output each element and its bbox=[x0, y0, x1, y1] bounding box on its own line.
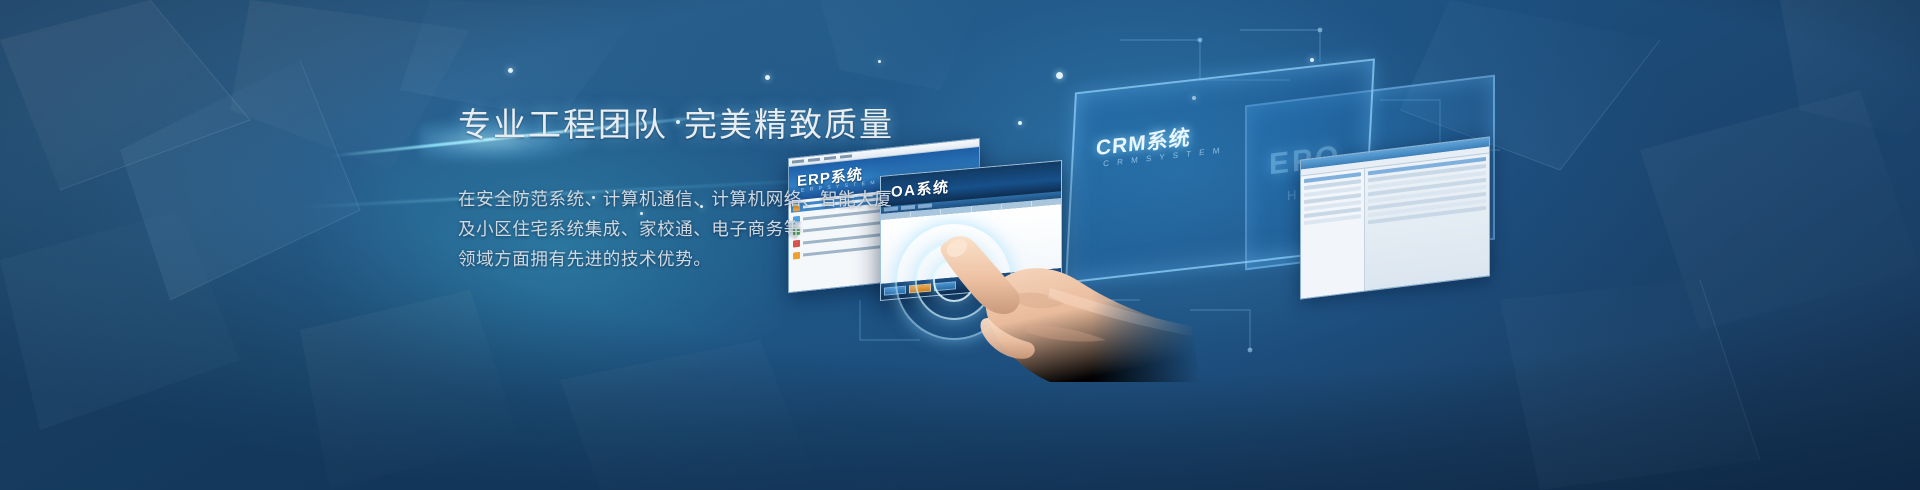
banner-headline: 专业工程团队完美精致质量 bbox=[458, 98, 878, 146]
description-line-3: 领域方面拥有先进的技术优势。 bbox=[458, 244, 878, 274]
description-line-2: 及小区住宅系统集成、家校通、电子商务等 bbox=[458, 214, 878, 244]
sparkle-dot bbox=[1056, 72, 1063, 79]
toolbar-button[interactable] bbox=[918, 203, 932, 208]
sparkle-dot bbox=[1018, 121, 1022, 125]
sparkle-dot bbox=[1310, 58, 1314, 62]
toolbar-button[interactable] bbox=[901, 205, 915, 210]
pointing-hand bbox=[930, 232, 1200, 382]
banner-description: 在安全防范系统、计算机通信、计算机网络、智能大厦 及小区住宅系统集成、家校通、电… bbox=[458, 184, 878, 274]
software-screens-illustration: EPO H A A P CRM系统 C R M S Y S T E M bbox=[0, 0, 1920, 490]
data-window-table[interactable] bbox=[1365, 153, 1489, 290]
oa-title: OA系统 bbox=[891, 176, 950, 202]
data-window[interactable] bbox=[1300, 136, 1490, 299]
sparkle-dot bbox=[765, 75, 770, 80]
data-window-body bbox=[1301, 153, 1489, 298]
headline-part-1: 专业工程团队 bbox=[458, 108, 668, 144]
hero-banner: EPO H A A P CRM系统 C R M S Y S T E M bbox=[0, 0, 1920, 490]
sparkle-dot bbox=[508, 68, 513, 73]
banner-copy: 专业工程团队完美精致质量 在安全防范系统、计算机通信、计算机网络、智能大厦 及小… bbox=[458, 98, 878, 274]
headline-part-2: 完美精致质量 bbox=[684, 108, 894, 144]
data-window-tree[interactable] bbox=[1301, 169, 1365, 299]
description-line-1: 在安全防范系统、计算机通信、计算机网络、智能大厦 bbox=[458, 184, 878, 214]
sparkle-dot bbox=[878, 60, 881, 63]
